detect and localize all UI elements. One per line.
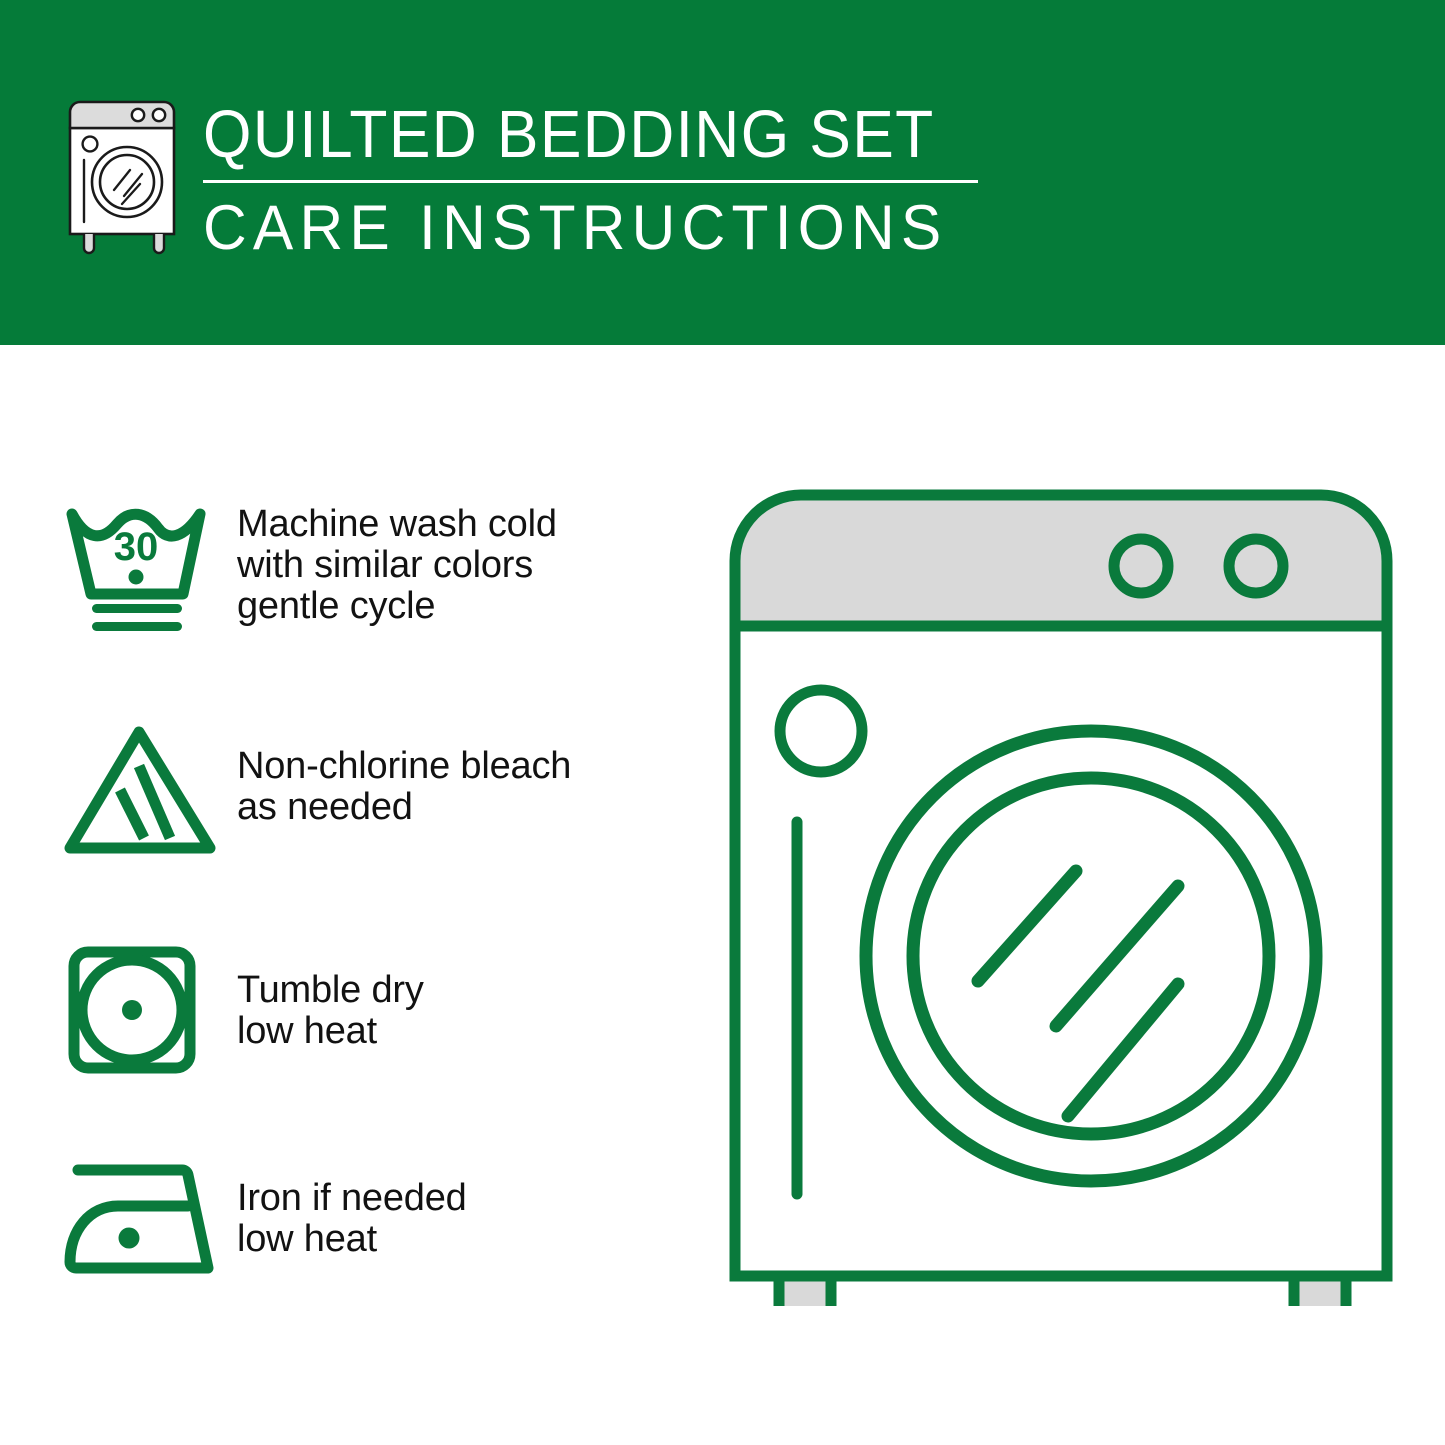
care-label-line: with similar colors	[237, 545, 557, 586]
front-load-washing-machine-illustration	[716, 476, 1406, 1306]
header-band: QUILTED BEDDING SET CARE INSTRUCTIONS	[0, 0, 1445, 345]
care-row-machine-wash: 30 Machine wash cold with similar colors…	[62, 498, 682, 638]
washer-leg-right	[1294, 1276, 1346, 1306]
care-label-line: Machine wash cold	[237, 504, 557, 545]
care-label-line: gentle cycle	[237, 586, 557, 627]
care-label-line: Iron if needed	[237, 1178, 467, 1219]
care-label-line: Tumble dry	[237, 970, 424, 1011]
care-label-machine-wash: Machine wash cold with similar colors ge…	[237, 498, 557, 627]
detergent-dispenser	[780, 690, 862, 772]
care-label-line: as needed	[237, 787, 571, 828]
washer-knob-right	[1229, 539, 1283, 593]
care-row-iron: Iron if needed low heat	[62, 1152, 682, 1282]
page-title: QUILTED BEDDING SET	[203, 96, 938, 174]
care-label-bleach: Non-chlorine bleach as needed	[237, 720, 571, 828]
care-row-bleach: Non-chlorine bleach as needed	[62, 720, 682, 860]
care-label-line: low heat	[237, 1219, 467, 1260]
page-subtitle: CARE INSTRUCTIONS	[203, 191, 961, 265]
washer-knob-left	[1114, 539, 1168, 593]
care-label-tumble-dry: Tumble dry low heat	[237, 940, 424, 1052]
washing-machine-icon	[62, 98, 190, 258]
wash-tub-icon: 30	[62, 498, 237, 638]
washer-leg-left	[779, 1276, 831, 1306]
iron-icon	[62, 1152, 237, 1282]
care-instructions-infographic: QUILTED BEDDING SET CARE INSTRUCTIONS 30…	[0, 0, 1445, 1445]
care-label-line: Non-chlorine bleach	[237, 746, 571, 787]
wash-temperature-label: 30	[114, 525, 159, 569]
tumble-dry-icon	[62, 940, 237, 1080]
care-row-tumble-dry: Tumble dry low heat	[62, 940, 682, 1080]
title-divider	[203, 180, 978, 183]
header-title-block: QUILTED BEDDING SET CARE INSTRUCTIONS	[203, 96, 993, 265]
bleach-triangle-icon	[62, 720, 237, 860]
care-label-line: low heat	[237, 1011, 424, 1052]
care-label-iron: Iron if needed low heat	[237, 1152, 467, 1260]
